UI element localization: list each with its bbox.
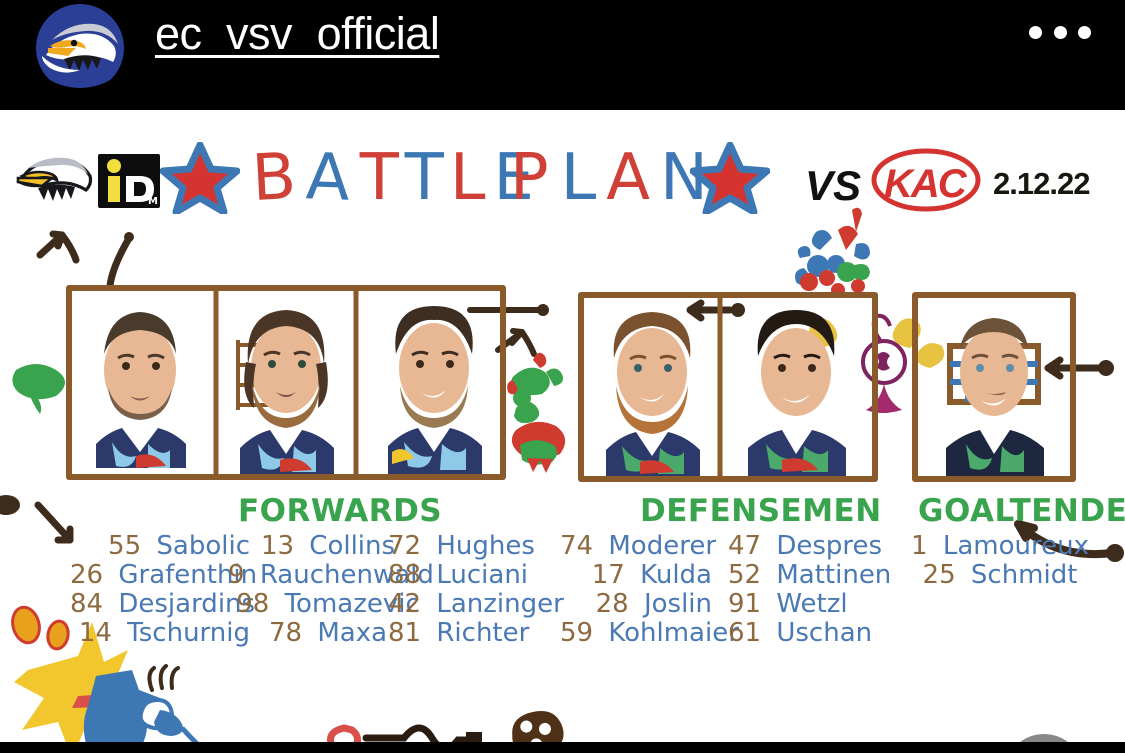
story-header: ec_vsv_official	[0, 0, 1125, 110]
roster-row: 26 Grafenthin	[70, 561, 250, 590]
player-name: Luciani	[436, 560, 528, 590]
player-name: Joslin	[644, 589, 712, 619]
player-photo-hughes	[372, 292, 497, 480]
roster-defensemen-col-2: 47 Despres 52 Mattinen 91 Wetzl 61 Uscha…	[728, 532, 908, 648]
match-date: 2.12.22	[993, 166, 1089, 202]
roster-row: 91 Wetzl	[728, 590, 908, 619]
poster-title-row: M BATTLE PLAN	[0, 130, 1125, 210]
player-photo-moderer	[590, 298, 715, 480]
idm-sponsor-logo: M	[14, 148, 174, 215]
roster-row: 17 Kulda	[560, 561, 712, 590]
star-icon-left	[160, 142, 240, 219]
roster-row: 81 Richter	[388, 619, 588, 648]
player-name: Hughes	[436, 531, 535, 561]
avatar[interactable]	[28, 0, 132, 88]
player-number: 55	[108, 531, 141, 561]
roster-row: 1 Lamoureux	[900, 532, 1100, 561]
player-name: Schmidt	[971, 560, 1078, 590]
title-word-battle: BATTLE	[252, 146, 534, 210]
svg-text:M: M	[148, 196, 158, 207]
player-number: 26	[70, 560, 103, 590]
player-name: Uschan	[776, 618, 872, 648]
vs-label: VS	[805, 162, 861, 210]
player-number: 78	[269, 618, 302, 648]
roster-forwards-col-1: 55 Sabolic 26 Grafenthin 84 Desjardins 1…	[70, 532, 250, 648]
player-number: 61	[728, 618, 761, 648]
player-number: 47	[728, 531, 761, 561]
opponent-label: KAC	[884, 162, 965, 207]
roster-row: 61 Uschan	[728, 619, 908, 648]
roster-row: 25 Schmidt	[900, 561, 1100, 590]
star-icon-right	[690, 142, 770, 219]
roster-row: 47 Despres	[728, 532, 908, 561]
player-number: 14	[79, 618, 112, 648]
bottom-bar	[0, 742, 1125, 753]
player-name: Collins	[309, 531, 395, 561]
kebab-menu-icon[interactable]	[1029, 18, 1091, 46]
roster-defensemen-col-1: 74 Moderer 17 Kulda 28 Joslin 59 Kohlmai…	[560, 532, 712, 648]
player-number: 1	[911, 531, 928, 561]
roster-row: 55 Sabolic	[70, 532, 250, 561]
player-number: 88	[388, 560, 421, 590]
roster-goaltender-col-1: 1 Lamoureux 25 Schmidt	[900, 532, 1100, 590]
player-number: 81	[388, 618, 421, 648]
player-number: 17	[592, 560, 625, 590]
eagle-head-logo-icon	[28, 0, 132, 88]
player-number: 84	[70, 589, 103, 619]
player-name: Lamoureux	[943, 531, 1089, 561]
player-photo-lamoureux	[932, 298, 1057, 480]
player-number: 74	[560, 531, 593, 561]
player-number: 13	[261, 531, 294, 561]
player-name: Lanzinger	[436, 589, 563, 619]
player-name: Richter	[436, 618, 529, 648]
player-photo-sabolic	[78, 292, 203, 480]
battle-plan-graphic: M BATTLE PLAN	[0, 110, 1125, 742]
player-photo-collins	[224, 292, 349, 480]
player-name: Moderer	[608, 531, 716, 561]
player-number: 59	[560, 618, 593, 648]
player-name: Kohlmaier	[608, 618, 739, 648]
title-word-plan: PLAN	[510, 146, 708, 210]
player-number: 42	[388, 589, 421, 619]
roster-row: 72 Hughes	[388, 532, 588, 561]
roster-row: 28 Joslin	[560, 590, 712, 619]
player-name: Wetzl	[776, 589, 847, 619]
roster-row: 74 Moderer	[560, 532, 712, 561]
group-title-goaltender: GOALTENDER	[918, 493, 1125, 529]
player-name: Mattinen	[776, 560, 891, 590]
roster-row: 14 Tschurnig	[70, 619, 250, 648]
roster-row: 42 Lanzinger	[388, 590, 588, 619]
roster-row: 59 Kohlmaier	[560, 619, 712, 648]
roster-row: 52 Mattinen	[728, 561, 908, 590]
player-number: 72	[388, 531, 421, 561]
player-number: 91	[728, 589, 761, 619]
username-label[interactable]: ec_vsv_official	[155, 8, 439, 60]
player-number: 52	[728, 560, 761, 590]
story-viewer: ec_vsv_official	[0, 0, 1125, 753]
roster-forwards-col-3: 72 Hughes 88 Luciani 42 Lanzinger 81 Ric…	[388, 532, 588, 648]
player-name: Despres	[776, 531, 882, 561]
player-name: Kulda	[640, 560, 712, 590]
sound-toggle-button[interactable]	[1004, 734, 1084, 742]
roster-row: 88 Luciani	[388, 561, 588, 590]
group-title-forwards: FORWARDS	[238, 493, 442, 529]
roster-row: 84 Desjardins	[70, 590, 250, 619]
player-number: 98	[236, 589, 269, 619]
group-title-defensemen: DEFENSEMEN	[640, 493, 882, 529]
player-photo-despres	[734, 298, 859, 480]
player-number: 25	[923, 560, 956, 590]
player-name: Maxa	[317, 618, 387, 648]
player-number: 28	[596, 589, 629, 619]
player-number: 9	[228, 560, 245, 590]
